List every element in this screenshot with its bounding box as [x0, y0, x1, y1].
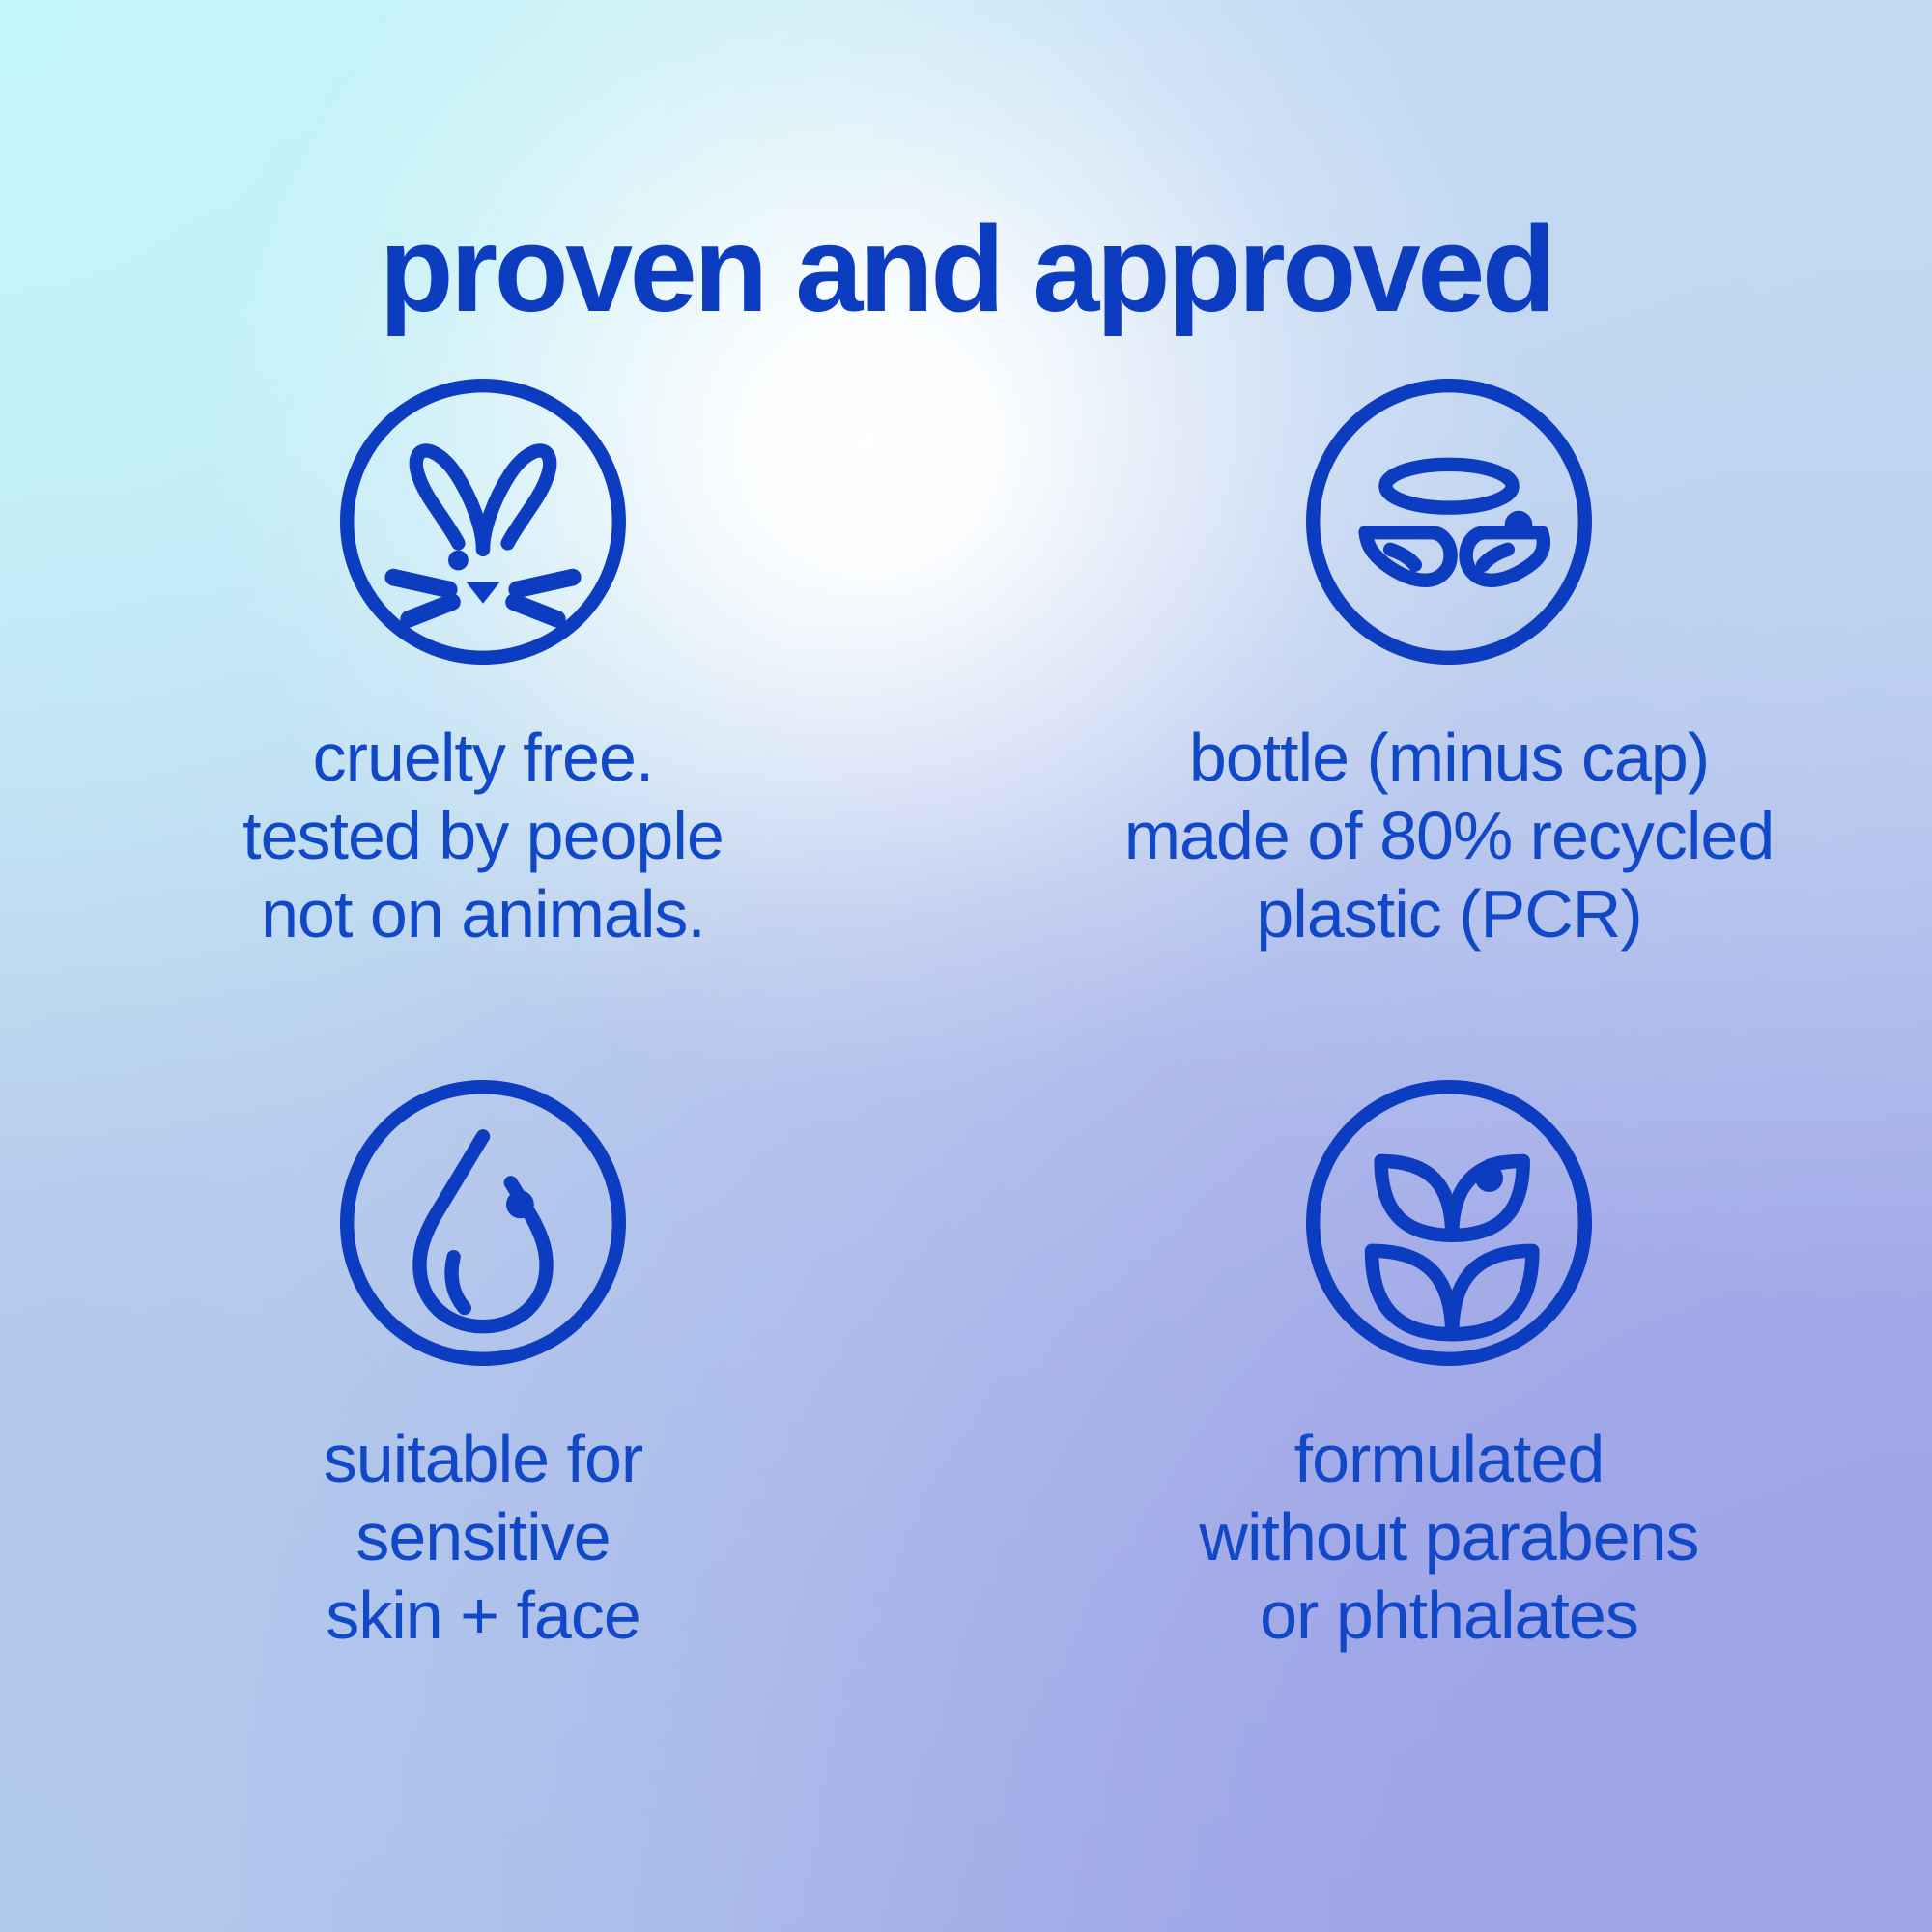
- caption-line: formulated: [1199, 1420, 1698, 1498]
- caption-line: bottle (minus cap): [1124, 719, 1775, 797]
- caption-line: skin + face: [324, 1577, 642, 1655]
- droplet-dot: [506, 1190, 534, 1218]
- badge-recycled-plastic: bottle (minus cap) made of 80% recycled …: [966, 367, 1932, 954]
- plant-seed-dot: [1475, 1164, 1503, 1192]
- leaf-lower-right: [1452, 1250, 1532, 1333]
- angel-wings-halo-in-circle-icon: [1294, 367, 1604, 676]
- badge-caption: formulated without parabens or phthalate…: [1199, 1420, 1698, 1656]
- proven-and-approved-panel: proven and approved cruel: [0, 0, 1932, 1932]
- sprouting-plant-leaves-in-circle-icon: [1294, 1068, 1604, 1378]
- badge-caption: bottle (minus cap) made of 80% recycled …: [1124, 719, 1775, 954]
- badge-no-parabens: formulated without parabens or phthalate…: [966, 1068, 1932, 1656]
- caption-line: or phthalates: [1199, 1577, 1698, 1655]
- badge-cruelty-free: cruelty free. tested by people not on an…: [0, 367, 966, 954]
- caption-line: tested by people: [242, 797, 724, 875]
- droplet-shine: [451, 1257, 464, 1308]
- angel-halo: [1385, 465, 1512, 508]
- caption-line: sensitive: [324, 1498, 642, 1577]
- leaf-upper-left: [1381, 1161, 1453, 1236]
- badge-caption: suitable for sensitive skin + face: [324, 1420, 642, 1656]
- badge-caption: cruelty free. tested by people not on an…: [242, 719, 724, 954]
- caption-line: suitable for: [324, 1420, 642, 1498]
- caption-line: without parabens: [1199, 1498, 1698, 1577]
- caption-line: not on animals.: [242, 875, 724, 953]
- caption-line: made of 80% recycled: [1124, 797, 1775, 875]
- droplet-outline: [419, 1136, 546, 1326]
- badge-grid: cruelty free. tested by people not on an…: [0, 367, 1932, 1655]
- water-droplet-in-circle-icon: [328, 1068, 638, 1378]
- angel-head-dot: [1505, 511, 1533, 539]
- page-title: proven and approved: [0, 209, 1932, 330]
- caption-line: cruelty free.: [242, 719, 724, 797]
- bunny-eye-dot: [448, 551, 469, 571]
- badge-sensitive-skin: suitable for sensitive skin + face: [0, 1068, 966, 1656]
- leaf-lower-left: [1372, 1250, 1452, 1333]
- bunny-in-circle-icon: [328, 367, 638, 676]
- caption-line: plastic (PCR): [1124, 875, 1775, 953]
- bunny-nose: [466, 582, 499, 603]
